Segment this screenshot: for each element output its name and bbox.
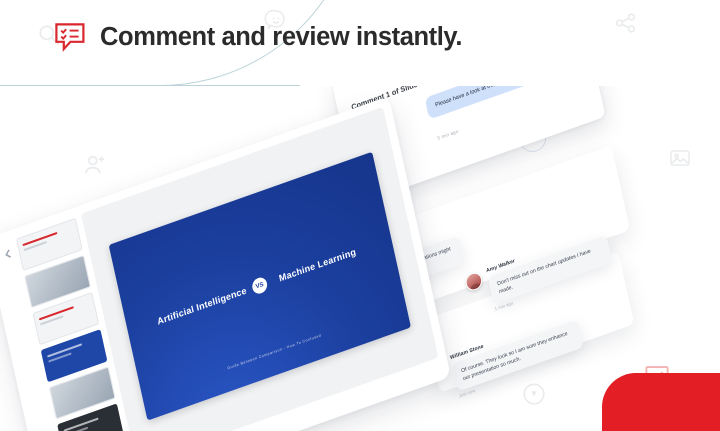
slide-right-title: Machine Learning [272,244,364,286]
active-slide[interactable]: Artificial Intelligence VS Machine Learn… [109,151,411,420]
comment-prompt-bubble: Please have a look at this slide and rev… [425,86,586,120]
back-arrow-icon[interactable] [2,245,15,260]
page-header: Comment and review instantly. [0,0,720,86]
slide-left-title: Artificial Intelligence [156,285,248,327]
accent-shape [602,373,720,431]
device-scene: 10:28 Comment 1 of Slide 5 RESOLVE Pleas… [0,86,720,431]
comment-checklist-icon [54,22,86,52]
avatar-amy-walker [464,270,484,292]
comment-prompt-meta: 5 min ago [437,129,459,141]
page-title: Comment and review instantly. [100,23,462,52]
slide-vs-badge: VS [251,276,269,296]
tablet-device: Artificial Intelligence VS Machine Learn… [0,96,451,431]
header-divider [0,85,300,86]
